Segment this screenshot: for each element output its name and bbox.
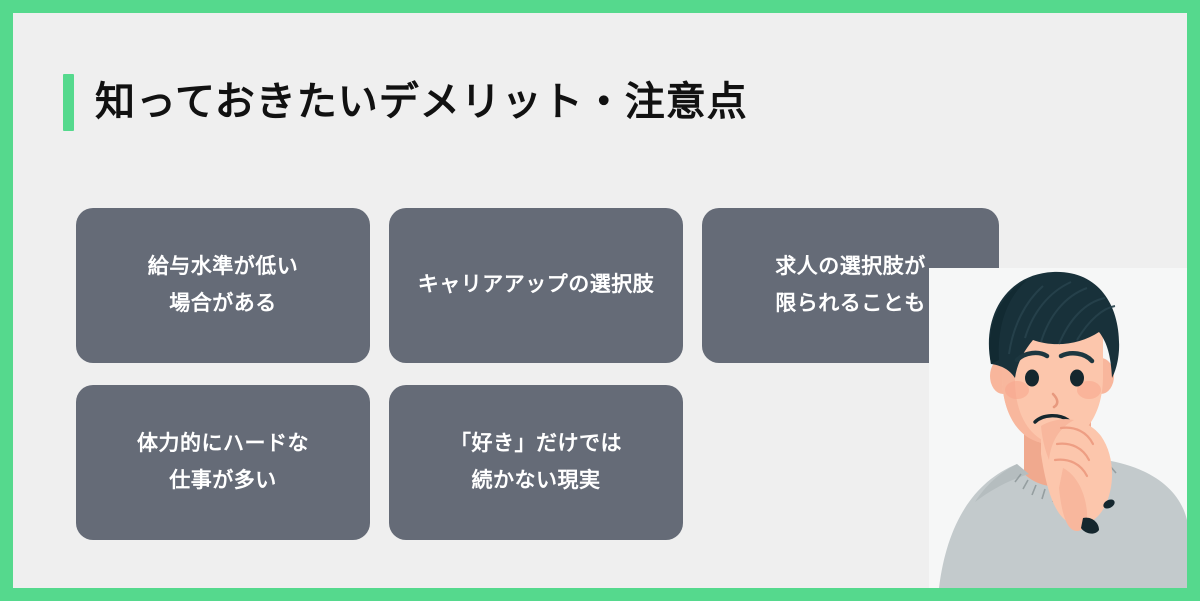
card-line: 続かない現実 — [472, 463, 601, 499]
card-line: 求人の選択肢が — [775, 249, 926, 285]
thinking-man-illustration — [929, 268, 1187, 588]
card-line: キャリアアップの選択肢 — [418, 267, 655, 303]
card-career-options[interactable]: キャリアアップの選択肢 — [389, 208, 683, 363]
title-label: 知っておきたいデメリット・注意点 — [95, 82, 748, 122]
card-line: 「好き」だけでは — [450, 426, 622, 462]
card-line: 限られることも — [775, 286, 926, 322]
slide-canvas: 知っておきたいデメリット・注意点 給与水準が低い 場合がある キャリアアップの選… — [0, 0, 1200, 601]
card-line: 体力的にハードな — [137, 426, 309, 462]
card-passion-not-enough[interactable]: 「好き」だけでは 続かない現実 — [389, 385, 683, 540]
card-physically-hard[interactable]: 体力的にハードな 仕事が多い — [76, 385, 370, 540]
card-line: 仕事が多い — [169, 463, 277, 499]
card-line: 給与水準が低い — [148, 249, 299, 285]
card-line: 場合がある — [169, 286, 277, 322]
card-grid: 給与水準が低い 場合がある キャリアアップの選択肢 求人の選択肢が 限られること… — [76, 208, 999, 540]
thinking-man-graphic — [929, 268, 1187, 588]
title-accent-bar — [63, 74, 74, 131]
page-title: 知っておきたいデメリット・注意点 — [63, 73, 748, 131]
card-salary-level[interactable]: 給与水準が低い 場合がある — [76, 208, 370, 363]
